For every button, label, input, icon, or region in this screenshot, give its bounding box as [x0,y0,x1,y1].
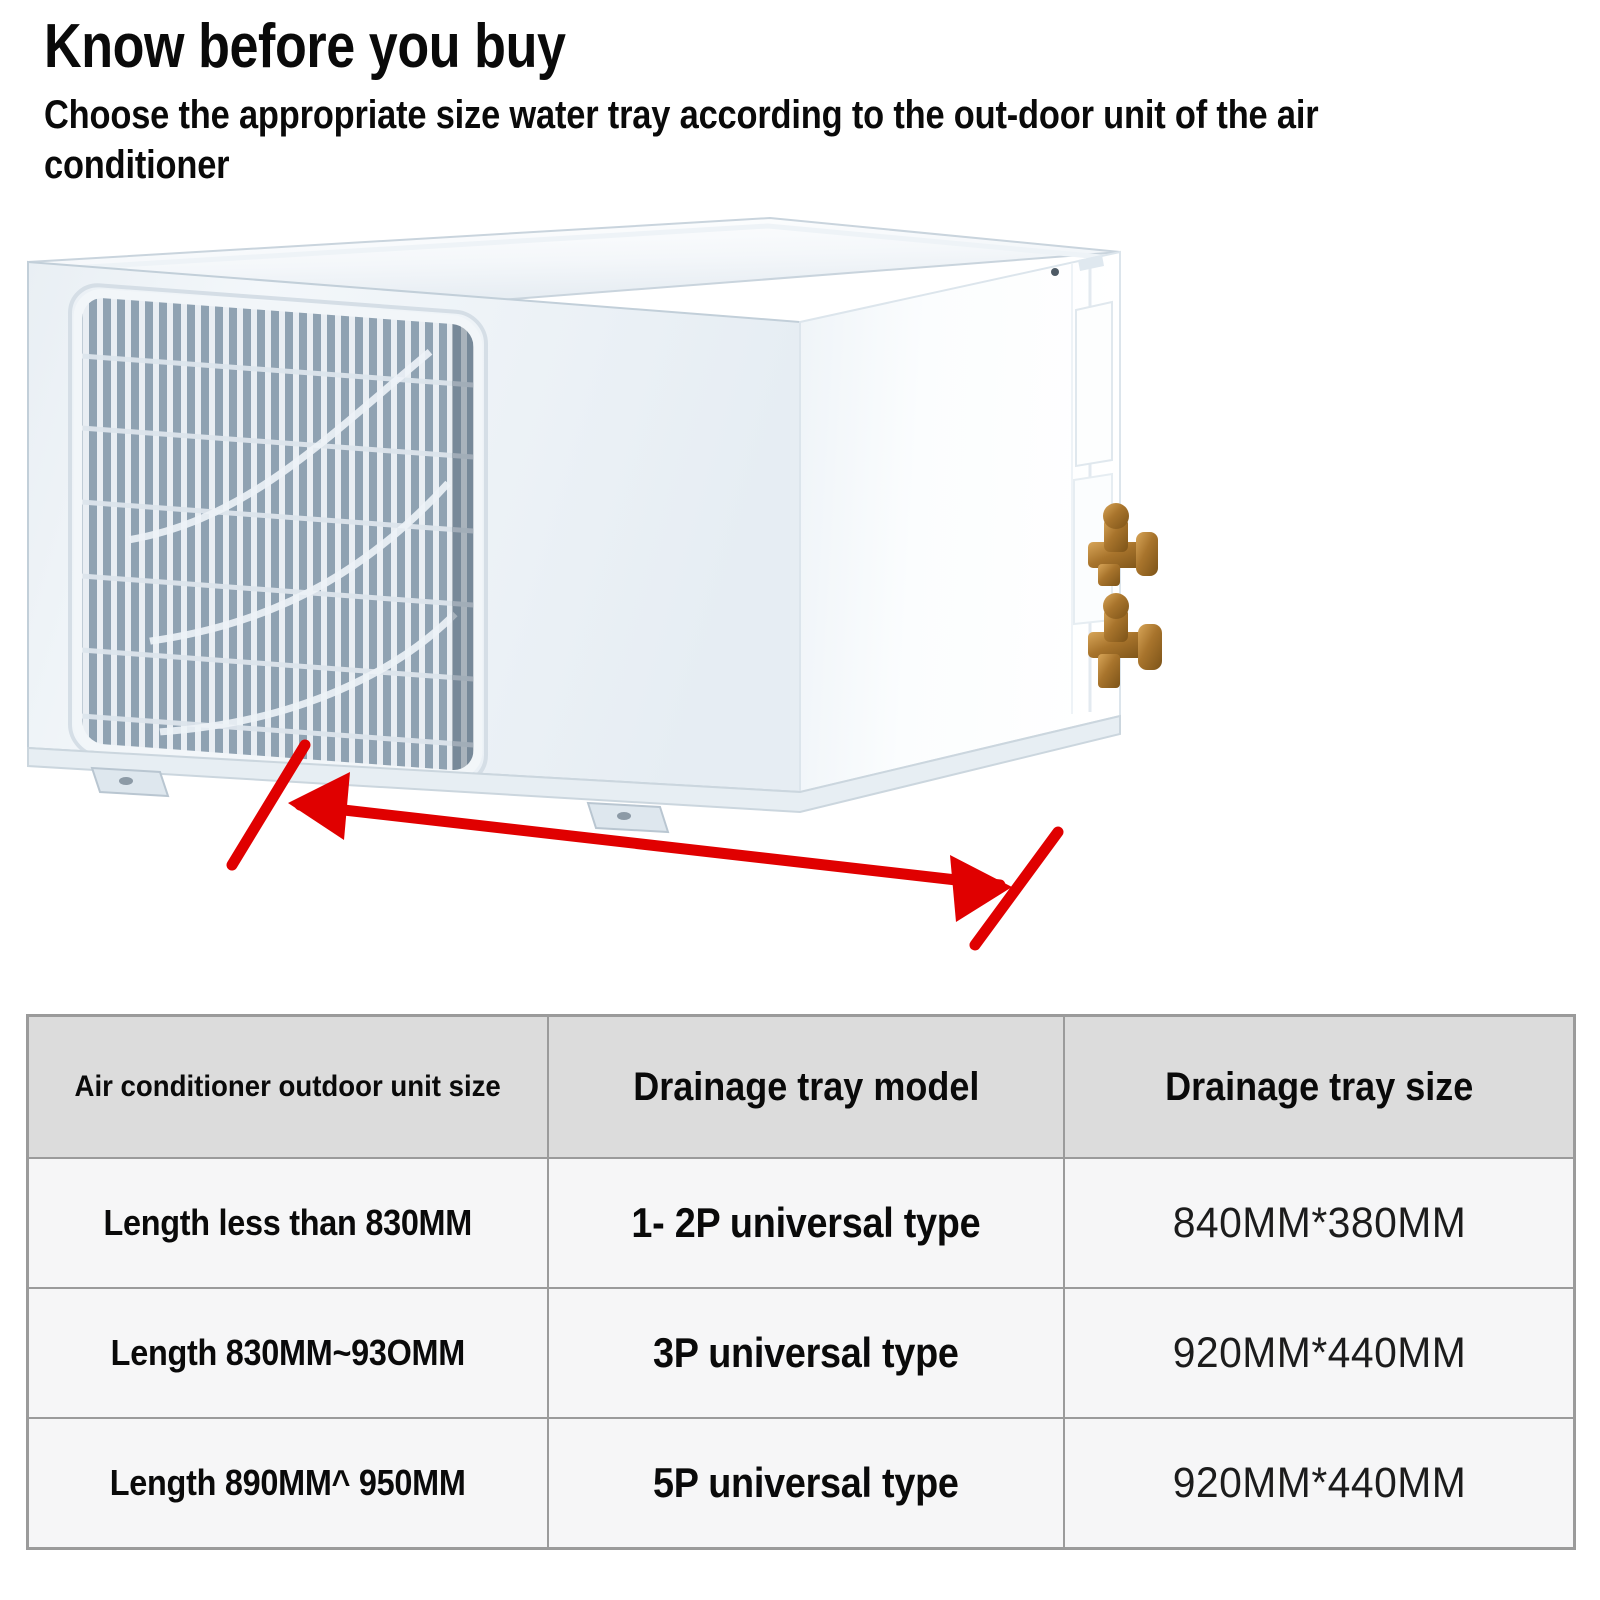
cell-tray-model: 3P universal type [548,1288,1064,1418]
ac-side-service-panel [1076,302,1112,466]
column-header-outdoor-unit-size: Air conditioner outdoor unit size [28,1016,548,1158]
cell-tray-model-label: 3P universal type [653,1329,959,1377]
ac-top-screw [1051,268,1059,276]
column-header-tray-size-label: Drainage tray size [1165,1065,1473,1110]
cell-outdoor-unit-size-label: Length 830MM~93OMM [111,1332,465,1374]
page-subtitle: Choose the appropriate size water tray a… [44,90,1489,190]
column-header-outdoor-unit-size-label: Air conditioner outdoor unit size [75,1070,501,1104]
cell-tray-size: 840MM*380MM [1064,1158,1574,1288]
ac-mounting-foot-left [92,768,168,796]
table-row: Length less than 830MM 1- 2P universal t… [28,1158,1574,1288]
cell-tray-model: 5P universal type [548,1418,1064,1548]
table-row: Length 890MM^ 950MM 5P universal type 92… [28,1418,1574,1548]
cell-outdoor-unit-size-label: Length 890MM^ 950MM [110,1462,466,1504]
cell-outdoor-unit-size-label: Length less than 830MM [104,1202,473,1244]
heading-block: Know before you buy Choose the appropria… [44,10,1494,190]
cell-tray-size-label: 920MM*440MM [1172,1459,1466,1508]
column-header-tray-size: Drainage tray size [1064,1016,1574,1158]
table-header-row: Air conditioner outdoor unit size Draina… [28,1016,1574,1158]
cell-tray-size: 920MM*440MM [1064,1418,1574,1548]
air-conditioner-outdoor-unit-illustration [0,200,1600,990]
cell-outdoor-unit-size: Length 830MM~93OMM [28,1288,548,1418]
ac-mounting-foot-right [588,803,668,832]
column-header-tray-model-label: Drainage tray model [633,1065,979,1110]
cell-tray-model-label: 1- 2P universal type [631,1199,980,1247]
cell-outdoor-unit-size: Length 890MM^ 950MM [28,1418,548,1548]
ac-unit-body [28,218,1162,832]
cell-tray-size: 920MM*440MM [1064,1288,1574,1418]
cell-tray-size-label: 840MM*380MM [1172,1199,1466,1248]
column-header-tray-model: Drainage tray model [548,1016,1064,1158]
product-illustration: Measure the length of the air conditione… [0,200,1600,990]
cell-tray-model-label: 5P universal type [653,1459,959,1507]
cell-tray-size-label: 920MM*440MM [1172,1329,1466,1378]
table-row: Length 830MM~93OMM 3P universal type 920… [28,1288,1574,1418]
cell-tray-model: 1- 2P universal type [548,1158,1064,1288]
page-title: Know before you buy [44,10,1262,84]
drainage-tray-spec-table: Air conditioner outdoor unit size Draina… [27,1015,1575,1549]
cell-outdoor-unit-size: Length less than 830MM [28,1158,548,1288]
ac-grille [70,283,490,785]
